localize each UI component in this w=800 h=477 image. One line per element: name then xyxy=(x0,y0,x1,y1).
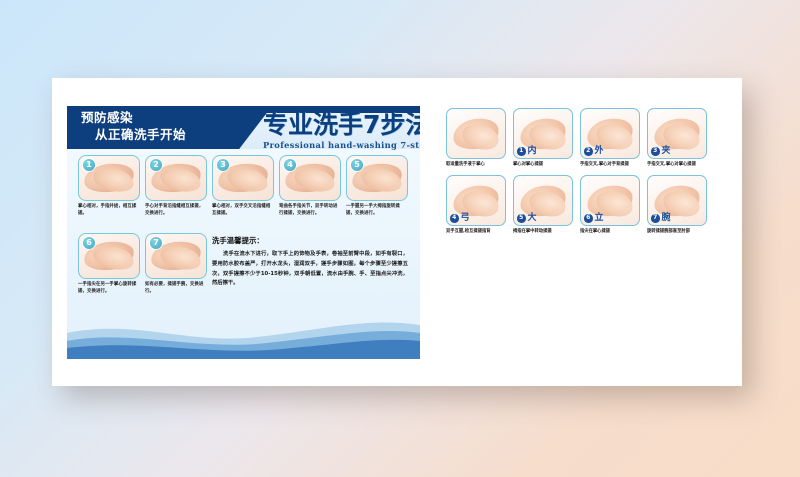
right-step-tag: 5 大 xyxy=(517,214,537,223)
step-number-badge: 1 xyxy=(83,159,95,171)
right-step-tag: 6 立 xyxy=(584,214,604,223)
wave-decoration xyxy=(67,315,420,359)
right-step-number: 6 xyxy=(584,214,593,223)
right-step-card: 7 腕 旋转揉搓腕部直至肘部 xyxy=(647,175,707,235)
right-step-card: 5 大 拇指在掌中转动揉搓 xyxy=(513,175,573,235)
step-caption: 一手握另一手大拇指旋转揉搓，交换进行。 xyxy=(346,204,408,218)
right-step-tag: 7 腕 xyxy=(651,214,671,223)
right-step-caption: 拇指在掌中转动揉搓 xyxy=(513,229,573,235)
slogan-line-2: 从正确洗手开始 xyxy=(95,127,186,144)
right-step-card: 6 立 指尖在掌心揉搓 xyxy=(580,175,640,235)
right-row-1: 取适量洗手液于掌心 1 内 掌心对掌心揉搓 2 xyxy=(446,108,726,168)
right-step-card: 取适量洗手液于掌心 xyxy=(446,108,506,168)
right-step-key: 腕 xyxy=(662,214,671,223)
right-step-caption: 手指交叉,掌心对掌心揉搓 xyxy=(647,162,707,168)
step-card: 2 手心对手背沿指缝相互揉搓，交换进行。 xyxy=(145,155,207,218)
step-card: 1 掌心相对，手指并拢，相互揉搓。 xyxy=(78,155,140,218)
right-step-caption: 掌心对掌心揉搓 xyxy=(513,162,573,168)
right-step-photo: 7 腕 xyxy=(647,175,707,226)
step-photo: 2 xyxy=(145,155,207,201)
poster-title-cn: 专业洗手7步法 xyxy=(263,112,419,137)
right-step-photo: 1 内 xyxy=(513,108,573,159)
right-step-number: 1 xyxy=(517,147,526,156)
step-caption: 一手指尖在另一手掌心旋转揉搓，交换进行。 xyxy=(78,282,140,296)
step-photo: 5 xyxy=(346,155,408,201)
step-number-badge: 3 xyxy=(217,159,229,171)
step-number-badge: 2 xyxy=(150,159,162,171)
step-caption: 弯曲各手指关节，双手转动进行揉搓，交换进行。 xyxy=(279,204,341,218)
poster-slogan: 预防感染 从正确洗手开始 xyxy=(81,110,186,144)
poster-title-en: Professional hand-washing 7-step xyxy=(263,140,419,150)
right-step-key: 内 xyxy=(528,147,537,156)
tips-block: 洗手温馨提示： 洗手在流水下进行，取下手上的饰物及手表，卷袖至前臂中段，如手有裂… xyxy=(212,235,408,289)
right-step-caption: 取适量洗手液于掌心 xyxy=(446,162,506,168)
right-step-card: 4 弓 双手互握,检互揉搓指背 xyxy=(446,175,506,235)
step-photo: 1 xyxy=(78,155,140,201)
right-step-number: 2 xyxy=(584,147,593,156)
step-card: 5 一手握另一手大拇指旋转揉搓，交换进行。 xyxy=(346,155,408,218)
handwashing-poster: 预防感染 从正确洗手开始 专业洗手7步法 Professional hand-w… xyxy=(67,106,420,359)
right-step-number: 4 xyxy=(450,214,459,223)
right-step-key: 立 xyxy=(595,214,604,223)
right-step-photo: 4 弓 xyxy=(446,175,506,226)
right-step-card: 2 外 手指交叉,掌心对手背揉搓 xyxy=(580,108,640,168)
step-card: 4 弯曲各手指关节，双手转动进行揉搓，交换进行。 xyxy=(279,155,341,218)
right-step-photo: 2 外 xyxy=(580,108,640,159)
step-caption: 手心对手背沿指缝相互揉搓，交换进行。 xyxy=(145,204,207,218)
step-card: 6 一手指尖在另一手掌心旋转揉搓，交换进行。 xyxy=(78,233,140,296)
right-step-card: 1 内 掌心对掌心揉搓 xyxy=(513,108,573,168)
right-step-tag: 2 外 xyxy=(584,147,604,156)
poster-title-group: 专业洗手7步法 Professional hand-washing 7-step xyxy=(263,112,419,150)
poster-board: 预防感染 从正确洗手开始 专业洗手7步法 Professional hand-w… xyxy=(52,78,742,386)
right-step-photo xyxy=(446,108,506,159)
step-number-badge: 7 xyxy=(150,237,162,249)
step-card: 7 如有必要，揉搓手腕，交换进行。 xyxy=(145,233,207,296)
right-step-key: 外 xyxy=(595,147,604,156)
right-step-caption: 双手互握,检互揉搓指背 xyxy=(446,229,506,235)
right-step-key: 大 xyxy=(528,214,537,223)
step-caption: 掌心相对，手指并拢，相互揉搓。 xyxy=(78,204,140,218)
right-step-key: 弓 xyxy=(461,214,470,223)
right-steps-panel: 取适量洗手液于掌心 1 内 掌心对掌心揉搓 2 xyxy=(446,108,726,242)
right-step-caption: 手指交叉,掌心对手背揉搓 xyxy=(580,162,640,168)
step-caption: 如有必要，揉搓手腕，交换进行。 xyxy=(145,282,207,296)
step-card: 3 掌心相对，双手交叉沿指缝相互揉搓。 xyxy=(212,155,274,218)
right-step-number: 5 xyxy=(517,214,526,223)
right-step-photo: 6 立 xyxy=(580,175,640,226)
right-step-photo: 5 大 xyxy=(513,175,573,226)
right-step-key: 夹 xyxy=(662,147,671,156)
step-photo: 3 xyxy=(212,155,274,201)
tips-body: 洗手在流水下进行，取下手上的饰物及手表，卷袖至前臂中段，如手有裂口，要用防水胶布… xyxy=(212,250,408,289)
steps-row-1: 1 掌心相对，手指并拢，相互揉搓。 2 手心对手背沿指缝相互揉搓，交换进行。 3 xyxy=(78,155,408,218)
slogan-line-1: 预防感染 xyxy=(81,110,186,127)
tips-title: 洗手温馨提示： xyxy=(212,235,408,246)
step-caption: 掌心相对，双手交叉沿指缝相互揉搓。 xyxy=(212,204,274,218)
right-step-number: 3 xyxy=(651,147,660,156)
right-step-tag: 4 弓 xyxy=(450,214,470,223)
right-row-2: 4 弓 双手互握,检互揉搓指背 5 大 拇指在掌中转动揉搓 xyxy=(446,175,726,235)
step-number-badge: 5 xyxy=(351,159,363,171)
step-number-badge: 6 xyxy=(83,237,95,249)
right-step-tag: 1 内 xyxy=(517,147,537,156)
step-photo: 6 xyxy=(78,233,140,279)
right-step-photo: 3 夹 xyxy=(647,108,707,159)
right-step-caption: 旋转揉搓腕部直至肘部 xyxy=(647,229,707,235)
step-photo: 7 xyxy=(145,233,207,279)
right-step-number: 7 xyxy=(651,214,660,223)
steps-row-2: 6 一手指尖在另一手掌心旋转揉搓，交换进行。 7 如有必要，揉搓手腕，交换进行。 xyxy=(78,233,207,296)
right-step-card: 3 夹 手指交叉,掌心对掌心揉搓 xyxy=(647,108,707,168)
step-photo: 4 xyxy=(279,155,341,201)
poster-header: 预防感染 从正确洗手开始 专业洗手7步法 Professional hand-w… xyxy=(67,106,420,149)
right-step-tag: 3 夹 xyxy=(651,147,671,156)
step-number-badge: 4 xyxy=(284,159,296,171)
right-step-caption: 指尖在掌心揉搓 xyxy=(580,229,640,235)
